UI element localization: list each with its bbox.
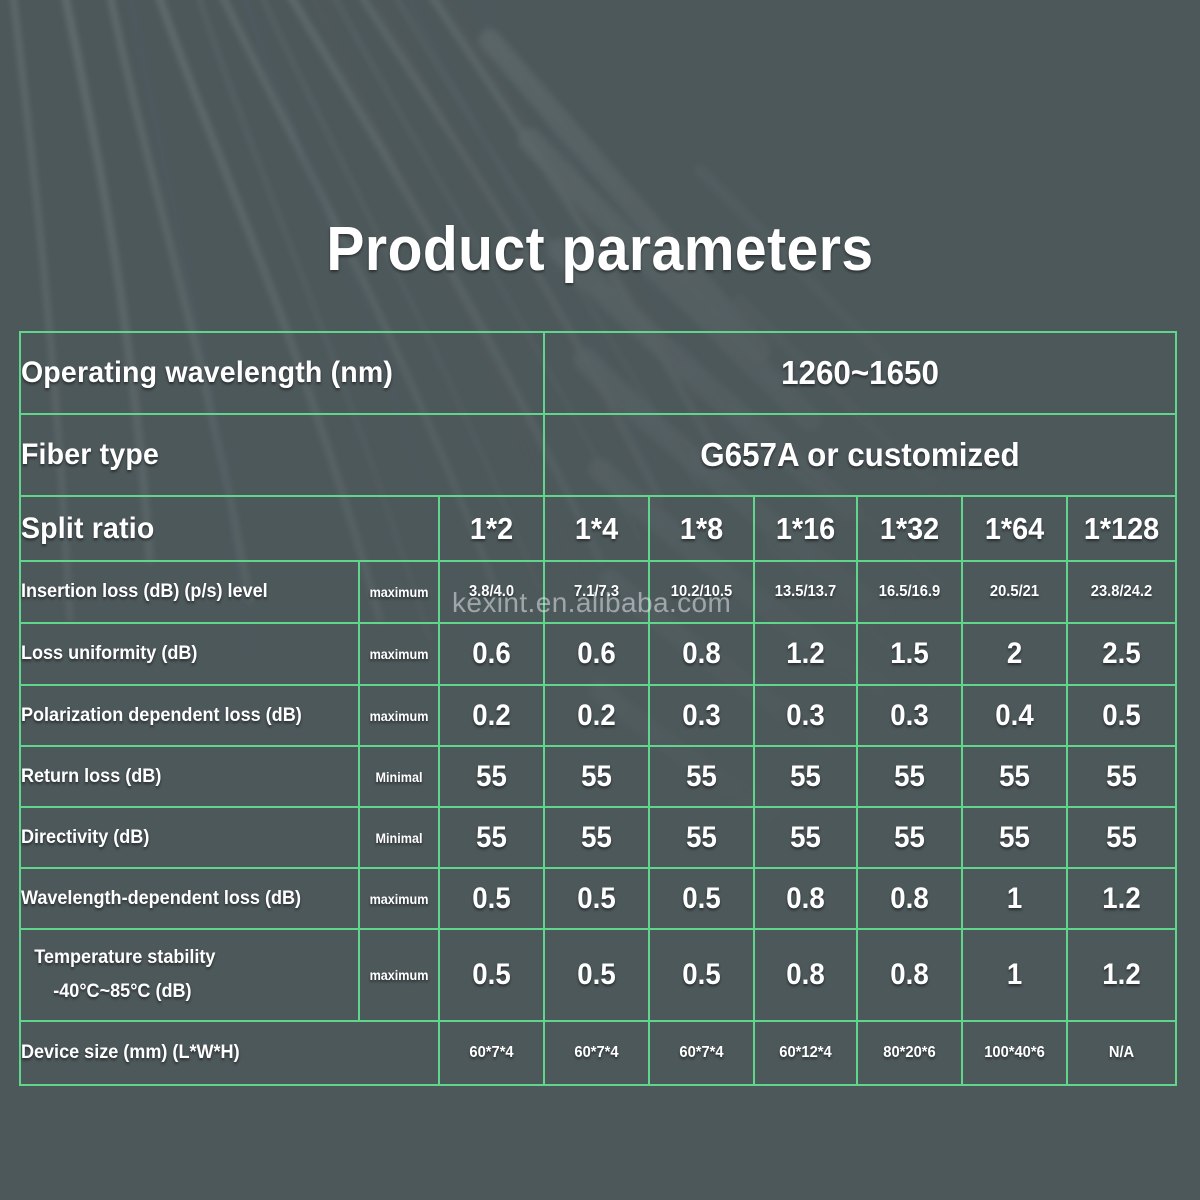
cell-temperature-stability-1x2: 0.5 xyxy=(443,929,540,1021)
row-condition-directivity: Minimal xyxy=(363,807,435,868)
row-condition-return-loss: Minimal xyxy=(363,746,435,807)
cell-wavelength-dependent-loss-1x2: 0.5 xyxy=(443,868,540,929)
cell-wavelength-dependent-loss-1x8: 0.5 xyxy=(653,868,750,929)
cell-directivity-1x2: 55 xyxy=(443,807,540,868)
cell-temperature-stability-1x64: 1 xyxy=(966,929,1063,1021)
cell-return-loss-1x128: 55 xyxy=(1071,746,1171,807)
product-parameters-table: Operating wavelength (nm) 1260~1650 Fibe… xyxy=(19,331,1177,1086)
cell-return-loss-1x32: 55 xyxy=(861,746,958,807)
row-label-directivity: Directivity (dB) xyxy=(20,807,342,868)
cell-temperature-stability-1x4: 0.5 xyxy=(548,929,645,1021)
cell-wavelength-dependent-loss-1x64: 1 xyxy=(966,868,1063,929)
cell-device-size-1x2: 60*7*4 xyxy=(443,1021,540,1085)
column-header-split-ratio-1x128: 1*128 xyxy=(1071,496,1172,561)
row-label-return-loss: Return loss (dB) xyxy=(20,746,342,807)
cell-device-size-1x16: 60*12*4 xyxy=(758,1021,853,1085)
row-condition-polarization-dependent-loss: maximum xyxy=(363,685,435,746)
row-label-temperature-stability: Temperature stability -40°C~85°C (dB) xyxy=(20,929,342,1021)
cell-wavelength-dependent-loss-1x4: 0.5 xyxy=(548,868,645,929)
cell-wavelength-dependent-loss-1x128: 1.2 xyxy=(1071,868,1171,929)
table-row-return-loss: Return loss (dB) Minimal 55 55 55 55 55 … xyxy=(20,746,1176,807)
cell-loss-uniformity-1x4: 0.6 xyxy=(548,623,645,685)
cell-loss-uniformity-1x128: 2.5 xyxy=(1071,623,1171,685)
cell-insertion-loss-1x2: 3.8/4.0 xyxy=(443,561,540,623)
cell-polarization-dependent-loss-1x8: 0.3 xyxy=(653,685,750,746)
row-label-fiber-type: Fiber type xyxy=(20,414,518,496)
table-header-split-ratio: Split ratio 1*2 1*4 1*8 1*16 1*32 1*64 1… xyxy=(20,496,1176,561)
row-value-fiber-type: G657A or customized xyxy=(560,414,1160,496)
column-header-split-ratio-1x4: 1*4 xyxy=(548,496,646,561)
temperature-stability-label-line1: Temperature stability xyxy=(21,947,341,969)
column-header-split-ratio-1x8: 1*8 xyxy=(653,496,751,561)
row-label-operating-wavelength: Operating wavelength (nm) xyxy=(20,332,518,414)
cell-insertion-loss-1x64: 20.5/21 xyxy=(966,561,1063,623)
row-label-wavelength-dependent-loss: Wavelength-dependent loss (dB) xyxy=(20,868,342,929)
row-value-operating-wavelength: 1260~1650 xyxy=(560,332,1160,414)
row-label-loss-uniformity: Loss uniformity (dB) xyxy=(20,623,342,685)
column-header-split-ratio-1x16: 1*16 xyxy=(758,496,854,561)
cell-return-loss-1x16: 55 xyxy=(758,746,853,807)
table-row-polarization-dependent-loss: Polarization dependent loss (dB) maximum… xyxy=(20,685,1176,746)
table-row-device-size: Device size (mm) (L*W*H) 60*7*4 60*7*4 6… xyxy=(20,1021,1176,1085)
row-label-device-size: Device size (mm) (L*W*H) xyxy=(20,1021,418,1085)
cell-temperature-stability-1x16: 0.8 xyxy=(758,929,853,1021)
table-row-insertion-loss: Insertion loss (dB) (p/s) level maximum … xyxy=(20,561,1176,623)
cell-directivity-1x32: 55 xyxy=(861,807,958,868)
cell-insertion-loss-1x16: 13.5/13.7 xyxy=(758,561,853,623)
cell-device-size-1x4: 60*7*4 xyxy=(548,1021,645,1085)
table-row-operating-wavelength: Operating wavelength (nm) 1260~1650 xyxy=(20,332,1176,414)
cell-polarization-dependent-loss-1x4: 0.2 xyxy=(548,685,645,746)
cell-loss-uniformity-1x32: 1.5 xyxy=(861,623,958,685)
cell-directivity-1x64: 55 xyxy=(966,807,1063,868)
cell-temperature-stability-1x128: 1.2 xyxy=(1071,929,1171,1021)
cell-return-loss-1x2: 55 xyxy=(443,746,540,807)
cell-device-size-1x8: 60*7*4 xyxy=(653,1021,750,1085)
product-parameters-page: Product parameters Operating wavelength … xyxy=(0,0,1200,1200)
cell-return-loss-1x64: 55 xyxy=(966,746,1063,807)
temperature-stability-label-line2: -40°C~85°C (dB) xyxy=(21,981,341,1003)
cell-return-loss-1x8: 55 xyxy=(653,746,750,807)
cell-insertion-loss-1x32: 16.5/16.9 xyxy=(861,561,958,623)
cell-directivity-1x128: 55 xyxy=(1071,807,1171,868)
cell-polarization-dependent-loss-1x32: 0.3 xyxy=(861,685,958,746)
cell-loss-uniformity-1x8: 0.8 xyxy=(653,623,750,685)
cell-insertion-loss-1x4: 7.1/7.3 xyxy=(548,561,645,623)
cell-insertion-loss-1x8: 10.2/10.5 xyxy=(653,561,750,623)
cell-insertion-loss-1x128: 23.8/24.2 xyxy=(1071,561,1171,623)
cell-loss-uniformity-1x2: 0.6 xyxy=(443,623,540,685)
row-label-insertion-loss: Insertion loss (dB) (p/s) level xyxy=(20,561,342,623)
cell-return-loss-1x4: 55 xyxy=(548,746,645,807)
cell-directivity-1x4: 55 xyxy=(548,807,645,868)
cell-wavelength-dependent-loss-1x16: 0.8 xyxy=(758,868,853,929)
row-label-split-ratio: Split ratio xyxy=(20,496,418,561)
row-condition-insertion-loss: maximum xyxy=(363,561,435,623)
row-condition-loss-uniformity: maximum xyxy=(363,623,435,685)
cell-polarization-dependent-loss-1x64: 0.4 xyxy=(966,685,1063,746)
cell-directivity-1x16: 55 xyxy=(758,807,853,868)
cell-device-size-1x64: 100*40*6 xyxy=(966,1021,1063,1085)
page-title: Product parameters xyxy=(48,207,1152,293)
row-condition-wavelength-dependent-loss: maximum xyxy=(363,868,435,929)
table-row-wavelength-dependent-loss: Wavelength-dependent loss (dB) maximum 0… xyxy=(20,868,1176,929)
column-header-split-ratio-1x64: 1*64 xyxy=(966,496,1064,561)
cell-loss-uniformity-1x16: 1.2 xyxy=(758,623,853,685)
cell-temperature-stability-1x32: 0.8 xyxy=(861,929,958,1021)
table-row-fiber-type: Fiber type G657A or customized xyxy=(20,414,1176,496)
cell-device-size-1x32: 80*20*6 xyxy=(861,1021,958,1085)
cell-polarization-dependent-loss-1x2: 0.2 xyxy=(443,685,540,746)
cell-directivity-1x8: 55 xyxy=(653,807,750,868)
cell-device-size-1x128: N/A xyxy=(1071,1021,1171,1085)
table-row-temperature-stability: Temperature stability -40°C~85°C (dB) ma… xyxy=(20,929,1176,1021)
row-label-polarization-dependent-loss: Polarization dependent loss (dB) xyxy=(20,685,342,746)
row-condition-temperature-stability: maximum xyxy=(363,929,435,1021)
column-header-split-ratio-1x32: 1*32 xyxy=(861,496,959,561)
cell-wavelength-dependent-loss-1x32: 0.8 xyxy=(861,868,958,929)
table-row-directivity: Directivity (dB) Minimal 55 55 55 55 55 … xyxy=(20,807,1176,868)
cell-polarization-dependent-loss-1x16: 0.3 xyxy=(758,685,853,746)
cell-polarization-dependent-loss-1x128: 0.5 xyxy=(1071,685,1171,746)
cell-loss-uniformity-1x64: 2 xyxy=(966,623,1063,685)
table-row-loss-uniformity: Loss uniformity (dB) maximum 0.6 0.6 0.8… xyxy=(20,623,1176,685)
column-header-split-ratio-1x2: 1*2 xyxy=(443,496,541,561)
cell-temperature-stability-1x8: 0.5 xyxy=(653,929,750,1021)
